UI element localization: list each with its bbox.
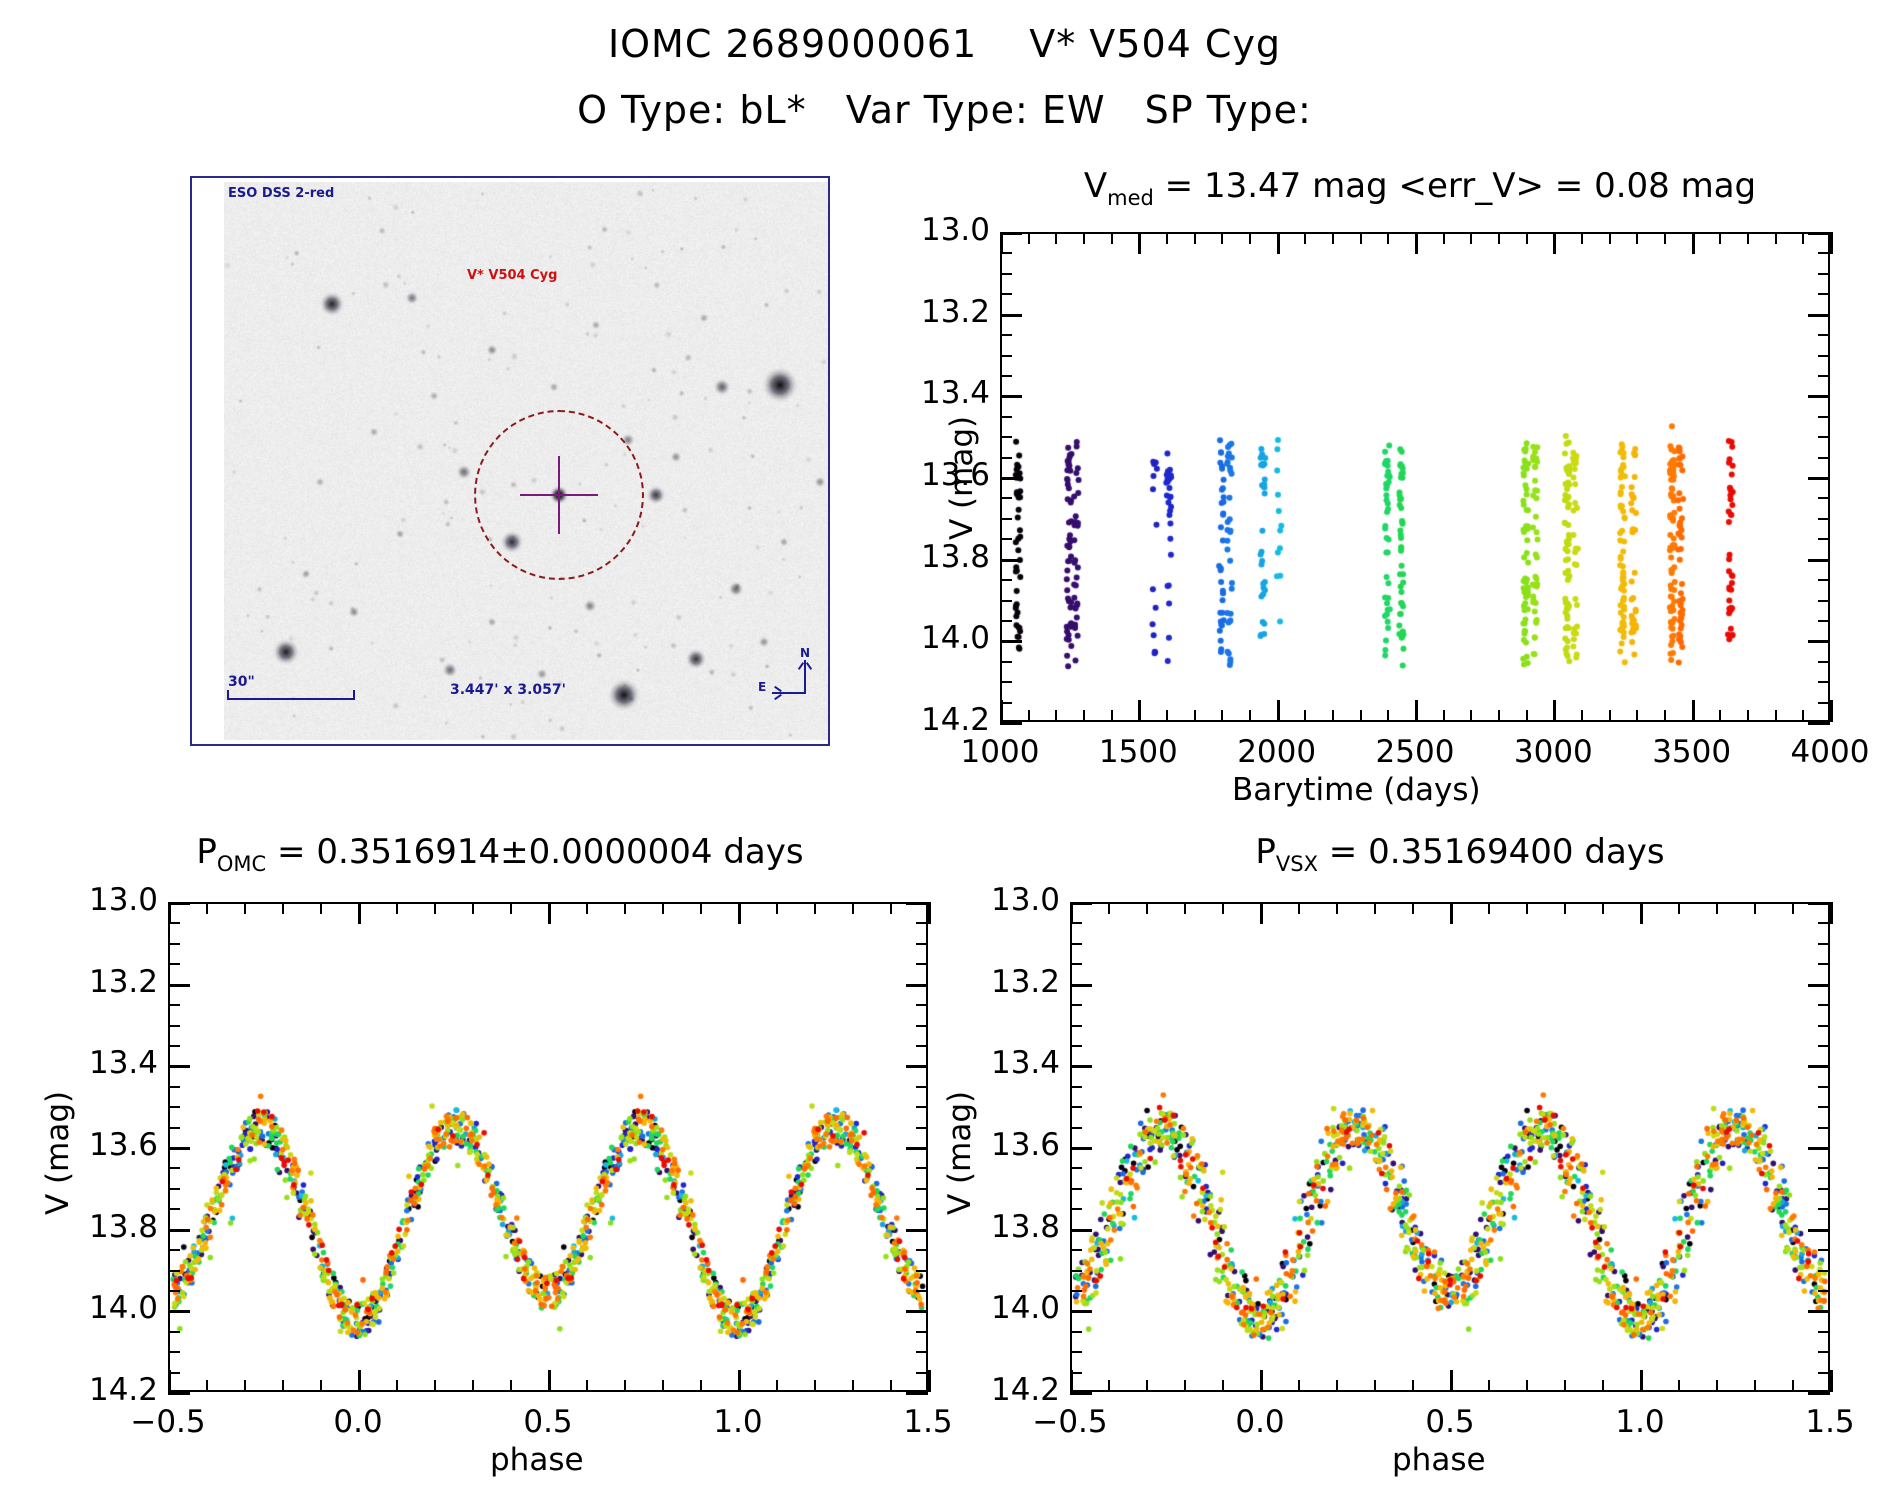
axis-major-tick bbox=[168, 1370, 171, 1392]
axis-minor-tick bbox=[1000, 436, 1012, 438]
sp-type-label: SP Type: bbox=[1145, 88, 1312, 132]
axis-minor-tick bbox=[168, 943, 180, 945]
x-tick-label: 1000 bbox=[930, 734, 1070, 770]
axis-minor-tick bbox=[1000, 600, 1012, 602]
axis-minor-tick bbox=[168, 1004, 180, 1006]
axis-major-tick bbox=[168, 984, 190, 987]
survey-label: ESO DSS 2-red bbox=[228, 186, 334, 201]
axis-major-tick bbox=[1070, 1147, 1092, 1150]
axis-minor-tick bbox=[1564, 1380, 1566, 1392]
y-tick-label: 13.0 bbox=[850, 212, 990, 248]
axis-minor-tick bbox=[1526, 710, 1528, 722]
axis-minor-tick bbox=[320, 1380, 322, 1392]
axis-minor-tick bbox=[624, 902, 626, 914]
y-tick-label: 14.0 bbox=[18, 1290, 158, 1326]
axis-major-tick bbox=[1277, 232, 1280, 254]
axis-major-tick bbox=[1808, 984, 1830, 987]
axis-minor-tick bbox=[1636, 710, 1638, 722]
axis-minor-tick bbox=[1775, 710, 1777, 722]
finder-object-label: V* V504 Cyg bbox=[467, 268, 557, 283]
axis-major-tick bbox=[1070, 902, 1073, 924]
axis-minor-tick bbox=[1818, 355, 1830, 357]
axis-minor-tick bbox=[1747, 232, 1749, 244]
y-tick-label: 13.4 bbox=[18, 1045, 158, 1081]
x-tick-label: 1.5 bbox=[858, 1404, 998, 1440]
axis-major-tick bbox=[1830, 1370, 1833, 1392]
axis-major-tick bbox=[1000, 232, 1022, 235]
axis-minor-tick bbox=[1470, 710, 1472, 722]
axis-minor-tick bbox=[1526, 1380, 1528, 1392]
axis-minor-tick bbox=[1070, 1127, 1082, 1129]
axis-major-tick bbox=[1808, 1310, 1830, 1313]
field-of-view-label: 3.447' x 3.057' bbox=[450, 682, 566, 698]
axis-minor-tick bbox=[206, 902, 208, 914]
axis-minor-tick bbox=[1818, 579, 1830, 581]
axis-minor-tick bbox=[916, 1106, 928, 1108]
axis-minor-tick bbox=[1581, 232, 1583, 244]
axis-minor-tick bbox=[1070, 1167, 1082, 1169]
axis-major-tick bbox=[1640, 1370, 1643, 1392]
object-name: V* V504 Cyg bbox=[1029, 22, 1281, 66]
axis-major-tick bbox=[1450, 902, 1453, 924]
axis-minor-tick bbox=[700, 902, 702, 914]
axis-minor-tick bbox=[1108, 902, 1110, 914]
axis-minor-tick bbox=[1818, 661, 1830, 663]
axis-major-tick bbox=[738, 902, 741, 924]
axis-major-tick bbox=[1808, 559, 1830, 562]
axis-minor-tick bbox=[1498, 710, 1500, 722]
axis-minor-tick bbox=[1000, 334, 1012, 336]
axis-minor-tick bbox=[1818, 600, 1830, 602]
page-subtitle: O Type: bL* Var Type: EW SP Type: bbox=[0, 88, 1889, 132]
axis-major-tick bbox=[1415, 700, 1418, 722]
y-tick-label: 13.8 bbox=[850, 539, 990, 575]
axis-minor-tick bbox=[1070, 1106, 1082, 1108]
axis-minor-tick bbox=[1360, 710, 1362, 722]
axis-minor-tick bbox=[852, 902, 854, 914]
axis-major-tick bbox=[1000, 232, 1003, 254]
axis-minor-tick bbox=[1249, 232, 1251, 244]
axis-minor-tick bbox=[1194, 232, 1196, 244]
lightcurve-title-prefix: V bbox=[1084, 166, 1107, 206]
axis-minor-tick bbox=[1336, 902, 1338, 914]
axis-minor-tick bbox=[1000, 273, 1012, 275]
axis-major-tick bbox=[1808, 722, 1830, 725]
axis-minor-tick bbox=[1360, 232, 1362, 244]
axis-major-tick bbox=[1000, 477, 1022, 480]
axis-minor-tick bbox=[1000, 538, 1012, 540]
x-tick-label: −0.5 bbox=[1000, 1404, 1140, 1440]
axis-minor-tick bbox=[472, 1380, 474, 1392]
axis-minor-tick bbox=[1678, 1380, 1680, 1392]
axis-major-tick bbox=[1138, 700, 1141, 722]
finder-chart: V* V504 Cyg ESO DSS 2-red 30" 3.447' x 3… bbox=[190, 176, 830, 746]
axis-minor-tick bbox=[396, 902, 398, 914]
var-type-value: EW bbox=[1042, 88, 1106, 132]
lightcurve-y-axis-label: V (mag) bbox=[944, 416, 980, 540]
axis-minor-tick bbox=[1070, 1249, 1082, 1251]
axis-minor-tick bbox=[1818, 1004, 1830, 1006]
y-tick-label: 14.0 bbox=[920, 1290, 1060, 1326]
axis-major-tick bbox=[1000, 314, 1022, 317]
axis-minor-tick bbox=[1818, 681, 1830, 683]
axis-minor-tick bbox=[1609, 710, 1611, 722]
x-tick-label: 0.5 bbox=[1380, 1404, 1520, 1440]
axis-minor-tick bbox=[624, 1380, 626, 1392]
axis-minor-tick bbox=[1000, 457, 1012, 459]
axis-minor-tick bbox=[1070, 1208, 1082, 1210]
o-type-value: bL* bbox=[739, 88, 806, 132]
axis-minor-tick bbox=[1664, 710, 1666, 722]
axis-minor-tick bbox=[1336, 1380, 1338, 1392]
axis-minor-tick bbox=[282, 902, 284, 914]
lightcurve-title-subscript: med bbox=[1107, 186, 1154, 210]
axis-minor-tick bbox=[1818, 293, 1830, 295]
axis-minor-tick bbox=[1108, 1380, 1110, 1392]
axis-minor-tick bbox=[1818, 457, 1830, 459]
axis-minor-tick bbox=[1664, 232, 1666, 244]
x-tick-label: 0.5 bbox=[478, 1404, 618, 1440]
axis-minor-tick bbox=[1818, 1025, 1830, 1027]
y-tick-label: 14.2 bbox=[920, 1372, 1060, 1408]
axis-major-tick bbox=[1830, 902, 1833, 924]
axis-minor-tick bbox=[700, 1380, 702, 1392]
y-tick-label: 14.2 bbox=[18, 1372, 158, 1408]
y-tick-label: 14.2 bbox=[850, 702, 990, 738]
axis-major-tick bbox=[1260, 902, 1263, 924]
phase-vsx-title-rest: = 0.35169400 days bbox=[1318, 832, 1665, 872]
axis-major-tick bbox=[168, 1229, 190, 1232]
axis-minor-tick bbox=[168, 1270, 180, 1272]
o-type-label: O Type: bbox=[577, 88, 726, 132]
phase-vsx-title-prefix: P bbox=[1255, 832, 1276, 872]
axis-major-tick bbox=[1692, 700, 1695, 722]
y-tick-label: 14.0 bbox=[850, 620, 990, 656]
x-tick-label: 2500 bbox=[1345, 734, 1485, 770]
axis-major-tick bbox=[1808, 1392, 1830, 1395]
axis-minor-tick bbox=[168, 1331, 180, 1333]
x-tick-label: 0.0 bbox=[1190, 1404, 1330, 1440]
axis-minor-tick bbox=[1818, 1372, 1830, 1374]
axis-major-tick bbox=[1000, 559, 1022, 562]
phase-omc-y-axis-label: V (mag) bbox=[40, 1091, 76, 1215]
axis-major-tick bbox=[1808, 1147, 1830, 1150]
x-tick-label: 3000 bbox=[1483, 734, 1623, 770]
axis-major-tick bbox=[1070, 902, 1092, 905]
axis-minor-tick bbox=[1298, 902, 1300, 914]
axis-minor-tick bbox=[1070, 1331, 1082, 1333]
axis-minor-tick bbox=[1802, 710, 1804, 722]
axis-minor-tick bbox=[168, 1351, 180, 1353]
axis-minor-tick bbox=[1818, 1086, 1830, 1088]
axis-minor-tick bbox=[168, 1106, 180, 1108]
axis-major-tick bbox=[1808, 1065, 1830, 1068]
axis-minor-tick bbox=[1818, 1045, 1830, 1047]
axis-minor-tick bbox=[168, 1167, 180, 1169]
axis-minor-tick bbox=[1564, 902, 1566, 914]
axis-minor-tick bbox=[168, 1025, 180, 1027]
axis-minor-tick bbox=[1488, 1380, 1490, 1392]
axis-minor-tick bbox=[1166, 232, 1168, 244]
axis-minor-tick bbox=[1332, 232, 1334, 244]
axis-major-tick bbox=[1138, 232, 1141, 254]
axis-major-tick bbox=[1000, 640, 1022, 643]
axis-major-tick bbox=[168, 902, 171, 924]
axis-minor-tick bbox=[1716, 1380, 1718, 1392]
axis-minor-tick bbox=[1818, 702, 1830, 704]
axis-minor-tick bbox=[1602, 1380, 1604, 1392]
y-tick-label: 13.2 bbox=[18, 964, 158, 1000]
axis-minor-tick bbox=[890, 902, 892, 914]
axis-minor-tick bbox=[1028, 710, 1030, 722]
axis-major-tick bbox=[1000, 722, 1022, 725]
phase-vsx-title-subscript: VSX bbox=[1276, 852, 1318, 876]
x-tick-label: 1.0 bbox=[668, 1404, 808, 1440]
axis-minor-tick bbox=[1070, 1025, 1082, 1027]
axis-major-tick bbox=[1553, 232, 1556, 254]
axis-minor-tick bbox=[1818, 1351, 1830, 1353]
axis-minor-tick bbox=[168, 1086, 180, 1088]
axis-minor-tick bbox=[1070, 943, 1082, 945]
axis-minor-tick bbox=[776, 1380, 778, 1392]
axis-minor-tick bbox=[168, 1127, 180, 1129]
axis-minor-tick bbox=[1754, 902, 1756, 914]
y-tick-label: 13.0 bbox=[920, 882, 1060, 918]
axis-minor-tick bbox=[916, 1351, 928, 1353]
axis-minor-tick bbox=[662, 1380, 664, 1392]
axis-minor-tick bbox=[1747, 710, 1749, 722]
axis-major-tick bbox=[168, 1065, 190, 1068]
axis-major-tick bbox=[168, 1392, 190, 1395]
axis-major-tick bbox=[1808, 902, 1830, 905]
axis-minor-tick bbox=[1818, 1208, 1830, 1210]
axis-minor-tick bbox=[776, 902, 778, 914]
axis-minor-tick bbox=[244, 1380, 246, 1392]
y-tick-label: 13.6 bbox=[18, 1127, 158, 1163]
catalog-id: IOMC 2689000061 bbox=[608, 22, 977, 66]
axis-minor-tick bbox=[1818, 1290, 1830, 1292]
axis-minor-tick bbox=[1818, 1249, 1830, 1251]
axis-minor-tick bbox=[206, 1380, 208, 1392]
axis-minor-tick bbox=[916, 1188, 928, 1190]
x-tick-label: 1500 bbox=[1068, 734, 1208, 770]
axis-minor-tick bbox=[852, 1380, 854, 1392]
axis-minor-tick bbox=[1332, 710, 1334, 722]
axis-major-tick bbox=[1070, 1310, 1092, 1313]
axis-major-tick bbox=[1277, 700, 1280, 722]
axis-minor-tick bbox=[1070, 1270, 1082, 1272]
axis-minor-tick bbox=[1412, 1380, 1414, 1392]
axis-minor-tick bbox=[1802, 232, 1804, 244]
axis-minor-tick bbox=[434, 902, 436, 914]
x-tick-label: 3500 bbox=[1622, 734, 1762, 770]
axis-minor-tick bbox=[916, 1270, 928, 1272]
axis-minor-tick bbox=[1221, 710, 1223, 722]
axis-minor-tick bbox=[1526, 902, 1528, 914]
axis-minor-tick bbox=[1775, 232, 1777, 244]
axis-minor-tick bbox=[916, 1004, 928, 1006]
axis-minor-tick bbox=[1000, 497, 1012, 499]
axis-major-tick bbox=[1808, 640, 1830, 643]
axis-major-tick bbox=[1000, 395, 1022, 398]
axis-minor-tick bbox=[510, 902, 512, 914]
compass-rose-icon: N E bbox=[766, 652, 822, 712]
phase-vsx-title: PVSX = 0.35169400 days bbox=[1060, 832, 1860, 876]
axis-minor-tick bbox=[1000, 375, 1012, 377]
axis-minor-tick bbox=[1818, 1270, 1830, 1272]
x-tick-label: 2000 bbox=[1207, 734, 1347, 770]
axis-minor-tick bbox=[916, 1167, 928, 1169]
axis-minor-tick bbox=[1184, 902, 1186, 914]
axis-major-tick bbox=[1640, 902, 1643, 924]
axis-minor-tick bbox=[1818, 1188, 1830, 1190]
compass-north-label: N bbox=[800, 646, 810, 660]
axis-minor-tick bbox=[282, 1380, 284, 1392]
axis-major-tick bbox=[168, 1310, 190, 1313]
phase-omc-x-axis-label: phase bbox=[490, 1442, 584, 1478]
axis-major-tick bbox=[548, 1370, 551, 1392]
y-tick-label: 13.2 bbox=[850, 294, 990, 330]
phase-omc-title-subscript: OMC bbox=[217, 852, 266, 876]
axis-major-tick bbox=[1808, 314, 1830, 317]
axis-minor-tick bbox=[1792, 902, 1794, 914]
axis-minor-tick bbox=[1222, 1380, 1224, 1392]
axis-minor-tick bbox=[1298, 1380, 1300, 1392]
axis-minor-tick bbox=[1716, 902, 1718, 914]
axis-minor-tick bbox=[434, 1380, 436, 1392]
axis-minor-tick bbox=[916, 922, 928, 924]
finder-chart-sky-image: V* V504 Cyg ESO DSS 2-red 30" 3.447' x 3… bbox=[224, 182, 828, 740]
phase-omc-title-prefix: P bbox=[196, 832, 217, 872]
scale-bar-label: 30" bbox=[228, 674, 255, 690]
axis-minor-tick bbox=[1000, 416, 1012, 418]
var-type-label: Var Type: bbox=[846, 88, 1029, 132]
axis-minor-tick bbox=[1636, 232, 1638, 244]
axis-minor-tick bbox=[1818, 963, 1830, 965]
x-tick-label: 4000 bbox=[1760, 734, 1889, 770]
target-crosshair-vertical bbox=[558, 456, 560, 534]
y-tick-label: 13.4 bbox=[920, 1045, 1060, 1081]
axis-minor-tick bbox=[1818, 538, 1830, 540]
axis-minor-tick bbox=[1070, 963, 1082, 965]
axis-major-tick bbox=[1070, 1229, 1092, 1232]
axis-minor-tick bbox=[168, 1290, 180, 1292]
axis-major-tick bbox=[168, 1147, 190, 1150]
axis-major-tick bbox=[1808, 1229, 1830, 1232]
axis-minor-tick bbox=[1055, 232, 1057, 244]
y-tick-label: 13.2 bbox=[920, 964, 1060, 1000]
axis-minor-tick bbox=[396, 1380, 398, 1392]
axis-major-tick bbox=[1070, 1065, 1092, 1068]
compass-east-label: E bbox=[758, 680, 766, 694]
axis-major-tick bbox=[548, 902, 551, 924]
axis-minor-tick bbox=[1818, 252, 1830, 254]
axis-major-tick bbox=[1070, 1392, 1092, 1395]
axis-minor-tick bbox=[1000, 620, 1012, 622]
axis-minor-tick bbox=[168, 1188, 180, 1190]
lightcurve-plot: 13.013.213.413.613.814.014.2 10001500200… bbox=[1000, 232, 1830, 722]
axis-minor-tick bbox=[1222, 902, 1224, 914]
axis-minor-tick bbox=[1443, 232, 1445, 244]
axis-minor-tick bbox=[1055, 710, 1057, 722]
axis-minor-tick bbox=[916, 1249, 928, 1251]
phase-vsx-x-axis-label: phase bbox=[1392, 1442, 1486, 1478]
axis-minor-tick bbox=[1818, 943, 1830, 945]
axis-minor-tick bbox=[1070, 1188, 1082, 1190]
axis-major-tick bbox=[738, 1370, 741, 1392]
axis-major-tick bbox=[1553, 700, 1556, 722]
axis-minor-tick bbox=[1526, 232, 1528, 244]
axis-minor-tick bbox=[1000, 355, 1012, 357]
page-title: IOMC 2689000061V* V504 Cyg bbox=[0, 22, 1889, 66]
axis-major-tick bbox=[1415, 232, 1418, 254]
axis-minor-tick bbox=[1000, 293, 1012, 295]
axis-minor-tick bbox=[916, 1086, 928, 1088]
axis-minor-tick bbox=[1083, 710, 1085, 722]
axis-minor-tick bbox=[1000, 661, 1012, 663]
axis-minor-tick bbox=[1719, 232, 1721, 244]
axis-minor-tick bbox=[168, 963, 180, 965]
axis-minor-tick bbox=[1412, 902, 1414, 914]
x-tick-label: 0.0 bbox=[288, 1404, 428, 1440]
axis-minor-tick bbox=[1818, 497, 1830, 499]
axis-major-tick bbox=[1830, 700, 1833, 722]
axis-major-tick bbox=[358, 902, 361, 924]
axis-minor-tick bbox=[1070, 1351, 1082, 1353]
x-tick-label: 1.5 bbox=[1760, 1404, 1889, 1440]
axis-minor-tick bbox=[1818, 334, 1830, 336]
axis-minor-tick bbox=[890, 1380, 892, 1392]
axis-minor-tick bbox=[1818, 620, 1830, 622]
axis-minor-tick bbox=[168, 1208, 180, 1210]
axis-minor-tick bbox=[1194, 710, 1196, 722]
axis-minor-tick bbox=[814, 1380, 816, 1392]
axis-minor-tick bbox=[1818, 518, 1830, 520]
axis-minor-tick bbox=[1028, 232, 1030, 244]
axis-minor-tick bbox=[1070, 1004, 1082, 1006]
y-tick-label: 13.6 bbox=[920, 1127, 1060, 1163]
axis-minor-tick bbox=[1304, 232, 1306, 244]
y-tick-label: 13.4 bbox=[850, 375, 990, 411]
axis-minor-tick bbox=[1374, 1380, 1376, 1392]
axis-major-tick bbox=[1000, 700, 1003, 722]
axis-major-tick bbox=[1450, 1370, 1453, 1392]
axis-minor-tick bbox=[1818, 273, 1830, 275]
axis-minor-tick bbox=[1719, 710, 1721, 722]
y-tick-label: 13.8 bbox=[18, 1209, 158, 1245]
axis-minor-tick bbox=[1609, 232, 1611, 244]
axis-minor-tick bbox=[916, 1331, 928, 1333]
axis-minor-tick bbox=[1387, 232, 1389, 244]
axis-minor-tick bbox=[1111, 710, 1113, 722]
axis-minor-tick bbox=[1304, 710, 1306, 722]
lightcurve-title: Vmed = 13.47 mag <err_V> = 0.08 mag bbox=[980, 166, 1860, 210]
axis-minor-tick bbox=[1754, 1380, 1756, 1392]
axis-minor-tick bbox=[662, 902, 664, 914]
y-tick-label: 13.0 bbox=[18, 882, 158, 918]
axis-minor-tick bbox=[1443, 710, 1445, 722]
axis-minor-tick bbox=[1166, 710, 1168, 722]
axis-minor-tick bbox=[472, 902, 474, 914]
axis-minor-tick bbox=[586, 902, 588, 914]
axis-minor-tick bbox=[1818, 416, 1830, 418]
axis-minor-tick bbox=[1818, 1167, 1830, 1169]
axis-minor-tick bbox=[1387, 710, 1389, 722]
axis-minor-tick bbox=[916, 943, 928, 945]
axis-minor-tick bbox=[1249, 710, 1251, 722]
axis-minor-tick bbox=[1470, 232, 1472, 244]
axis-minor-tick bbox=[1221, 232, 1223, 244]
